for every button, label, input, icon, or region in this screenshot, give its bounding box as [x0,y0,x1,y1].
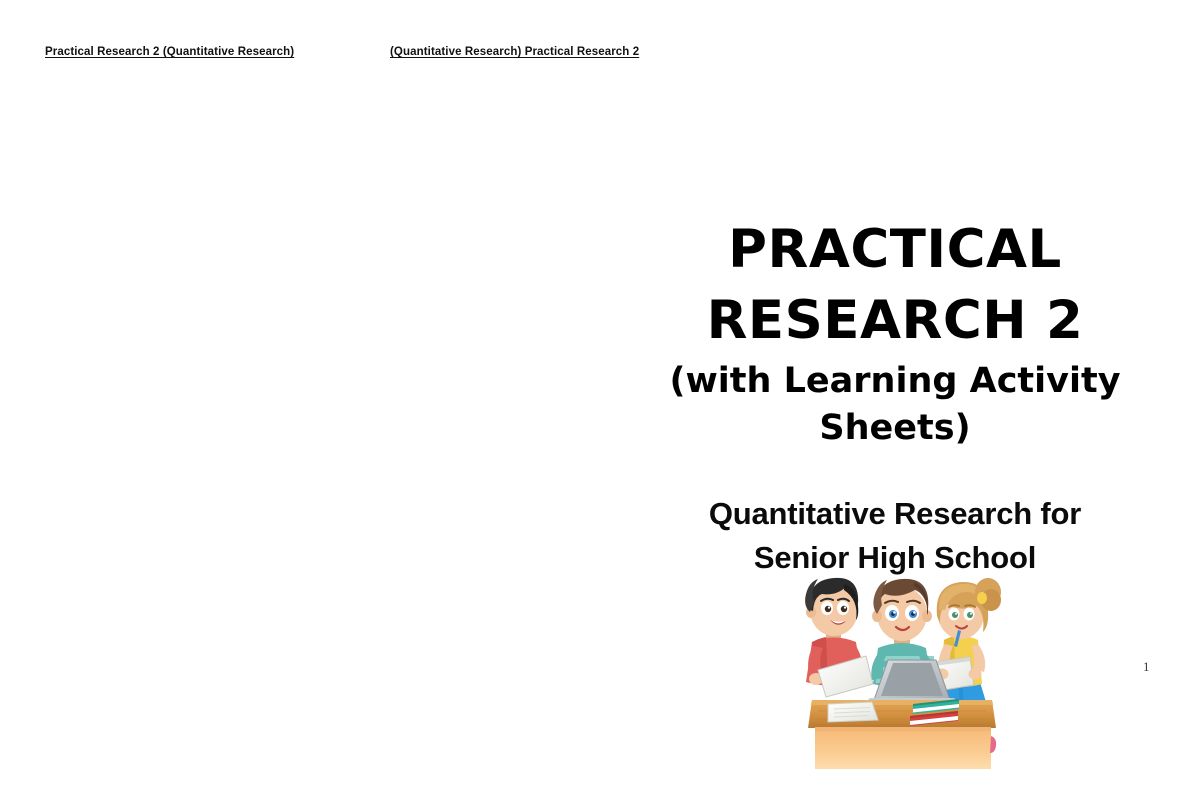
subtitle-block: Quantitative Research for Senior High Sc… [640,492,1150,580]
header-left-text: Practical Research 2 (Quantitative Resea… [45,46,294,58]
page-title-parenthetical-line-2: Sheets) [640,407,1150,450]
page-header-band: Practical Research 2 (Quantitative Resea… [0,44,1200,66]
student-left-figure [805,578,873,697]
page-title-parenthetical-line-1: (with Learning Activity [640,360,1150,403]
page-number: 1 [1143,659,1150,675]
page-title-line-1: PRACTICAL [640,214,1150,285]
subtitle-line-1: Quantitative Research for [640,492,1150,536]
header-right-text: (Quantitative Research) Practical Resear… [390,46,639,58]
desk [806,700,998,769]
students-illustration [782,570,1022,780]
title-block: PRACTICAL RESEARCH 2 (with Learning Acti… [640,214,1150,449]
page-title-line-2: RESEARCH 2 [640,285,1150,356]
